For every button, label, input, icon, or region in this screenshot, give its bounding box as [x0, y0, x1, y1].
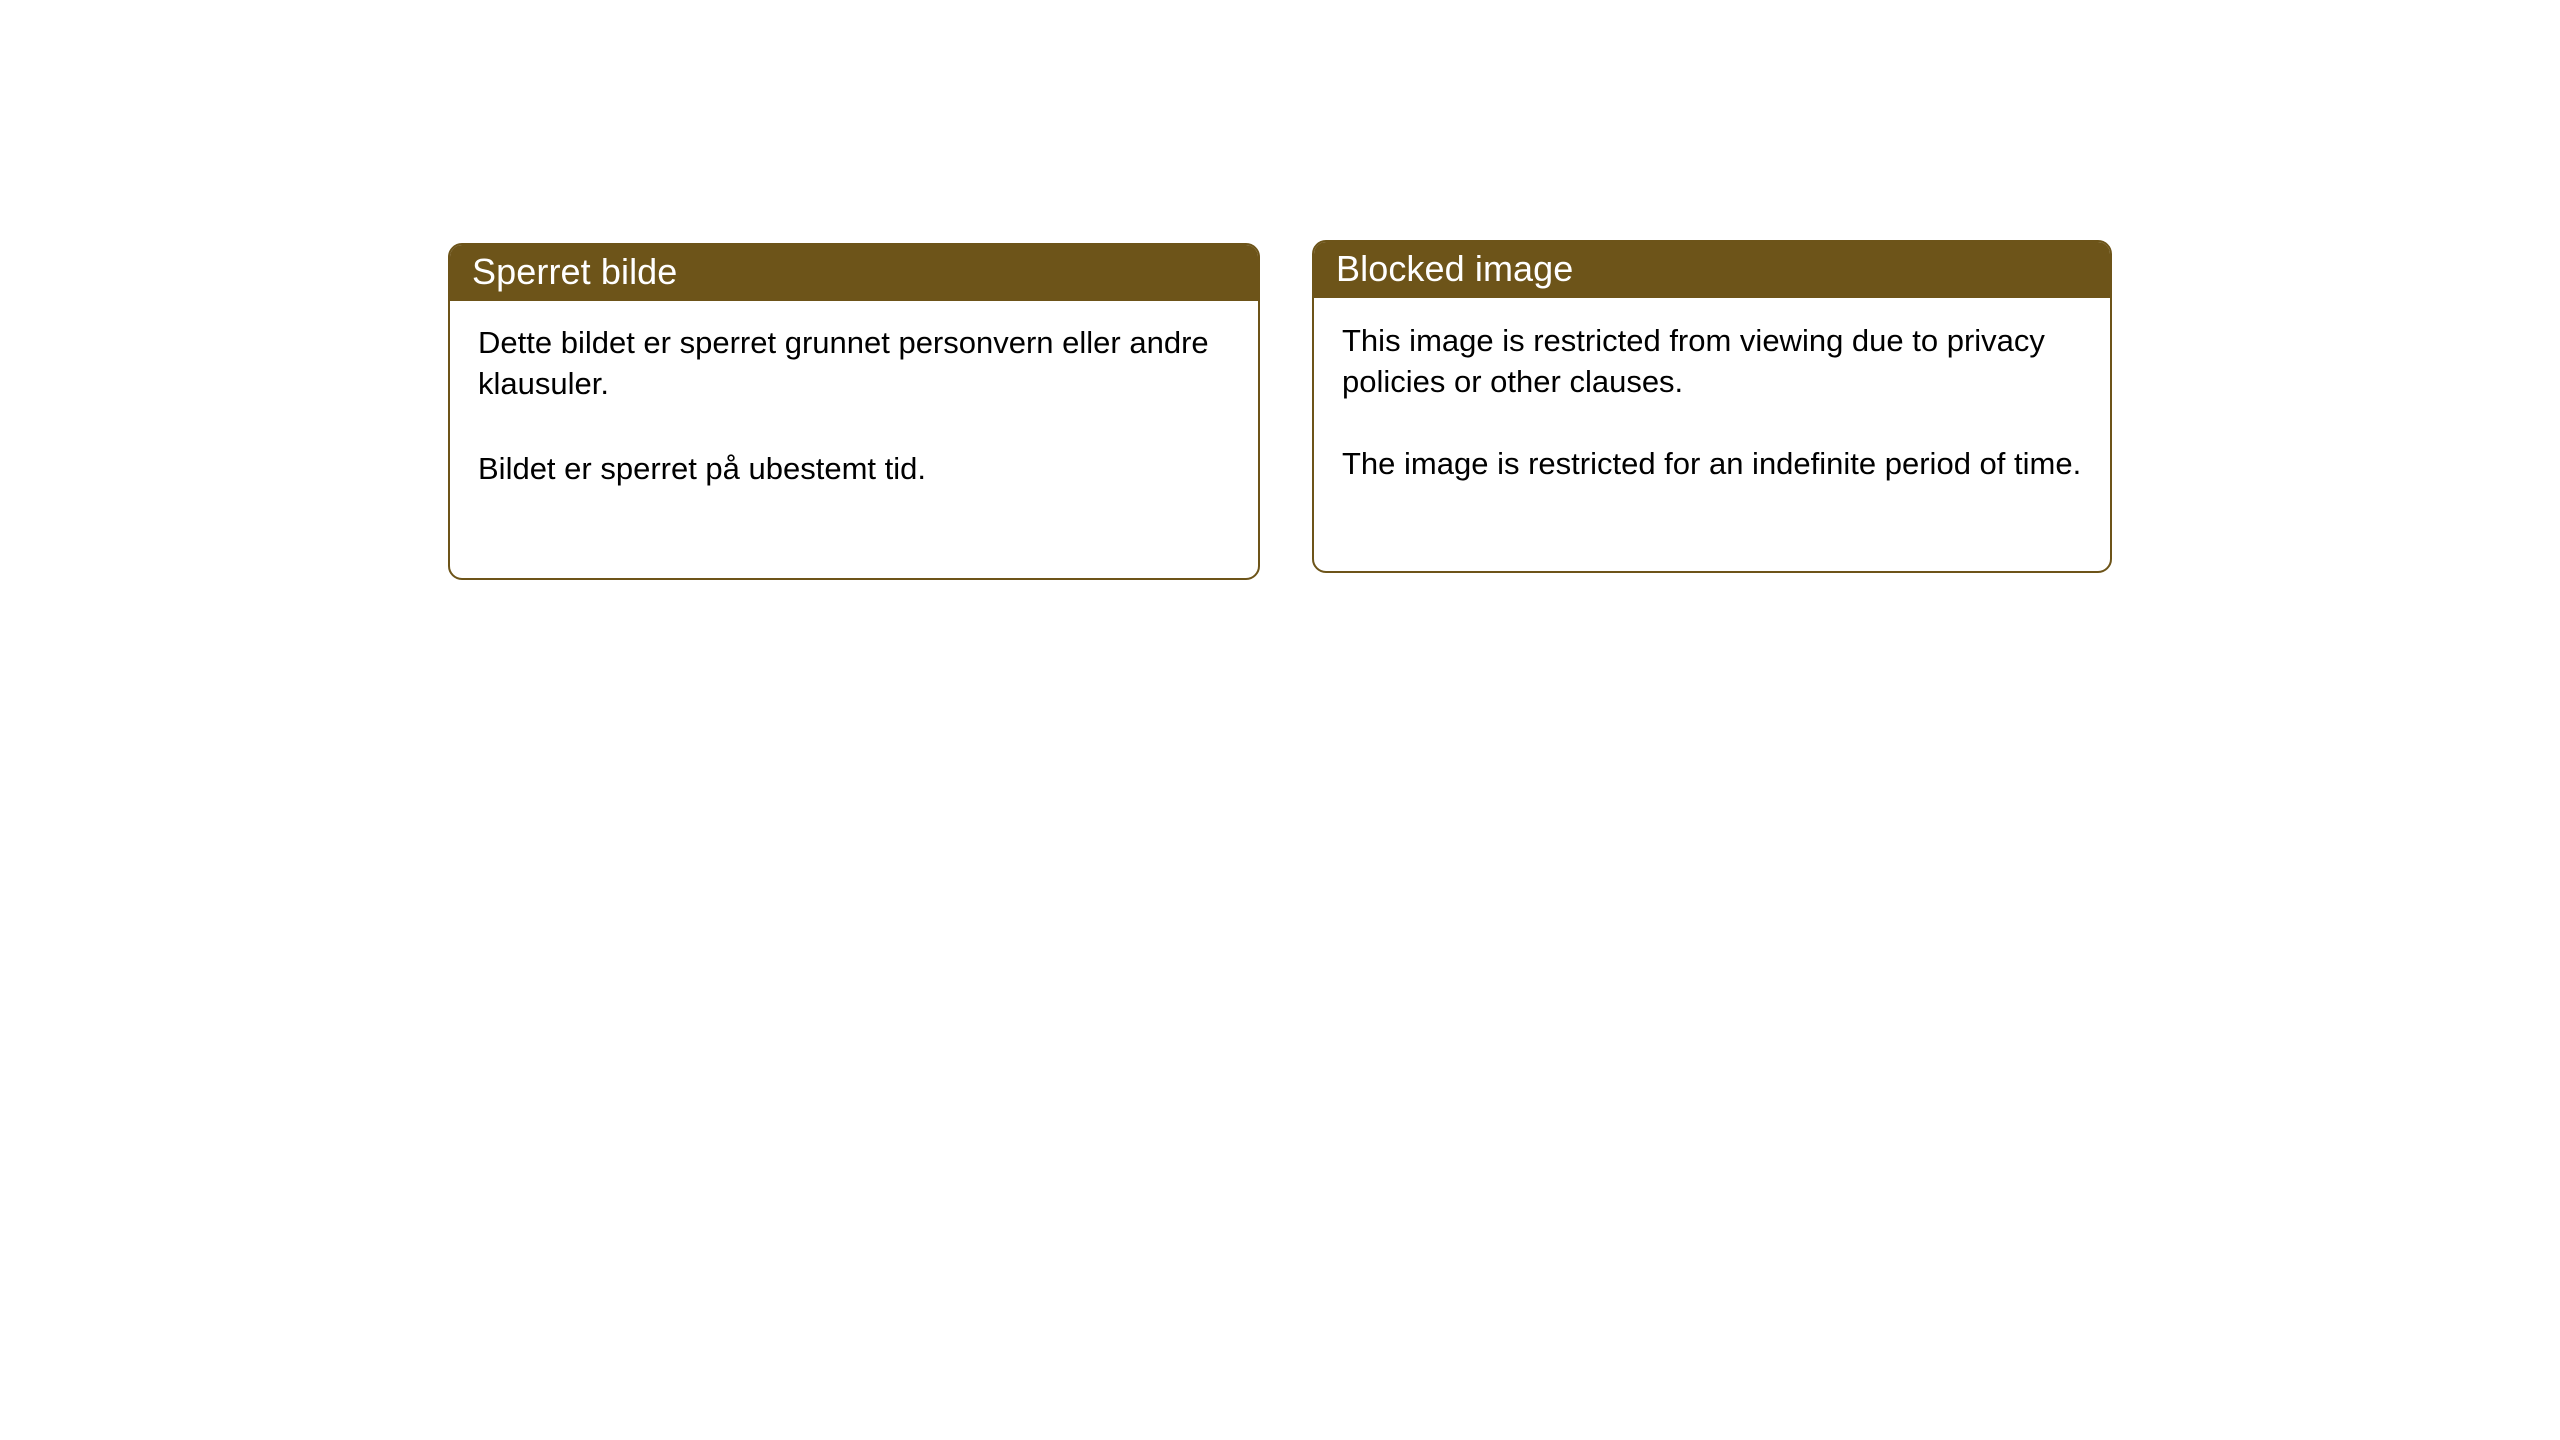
notice-title-en: Blocked image: [1336, 251, 1573, 287]
notice-paragraph-reason-no: Dette bildet er sperret grunnet personve…: [478, 323, 1230, 405]
blocked-image-notice-card-no: Sperret bilde Dette bildet er sperret gr…: [448, 243, 1260, 580]
notice-paragraph-duration-no: Bildet er sperret på ubestemt tid.: [478, 449, 1230, 490]
page-canvas: Sperret bilde Dette bildet er sperret gr…: [0, 0, 2560, 1440]
blocked-image-notice-card-en: Blocked image This image is restricted f…: [1312, 240, 2112, 573]
notice-paragraph-reason-en: This image is restricted from viewing du…: [1342, 321, 2082, 403]
notice-title-no: Sperret bilde: [472, 254, 677, 290]
notice-header-no: Sperret bilde: [448, 243, 1260, 301]
notice-header-en: Blocked image: [1312, 240, 2112, 298]
notice-body-no: Dette bildet er sperret grunnet personve…: [450, 301, 1258, 490]
notice-body-en: This image is restricted from viewing du…: [1314, 298, 2110, 485]
notice-paragraph-duration-en: The image is restricted for an indefinit…: [1342, 444, 2082, 485]
